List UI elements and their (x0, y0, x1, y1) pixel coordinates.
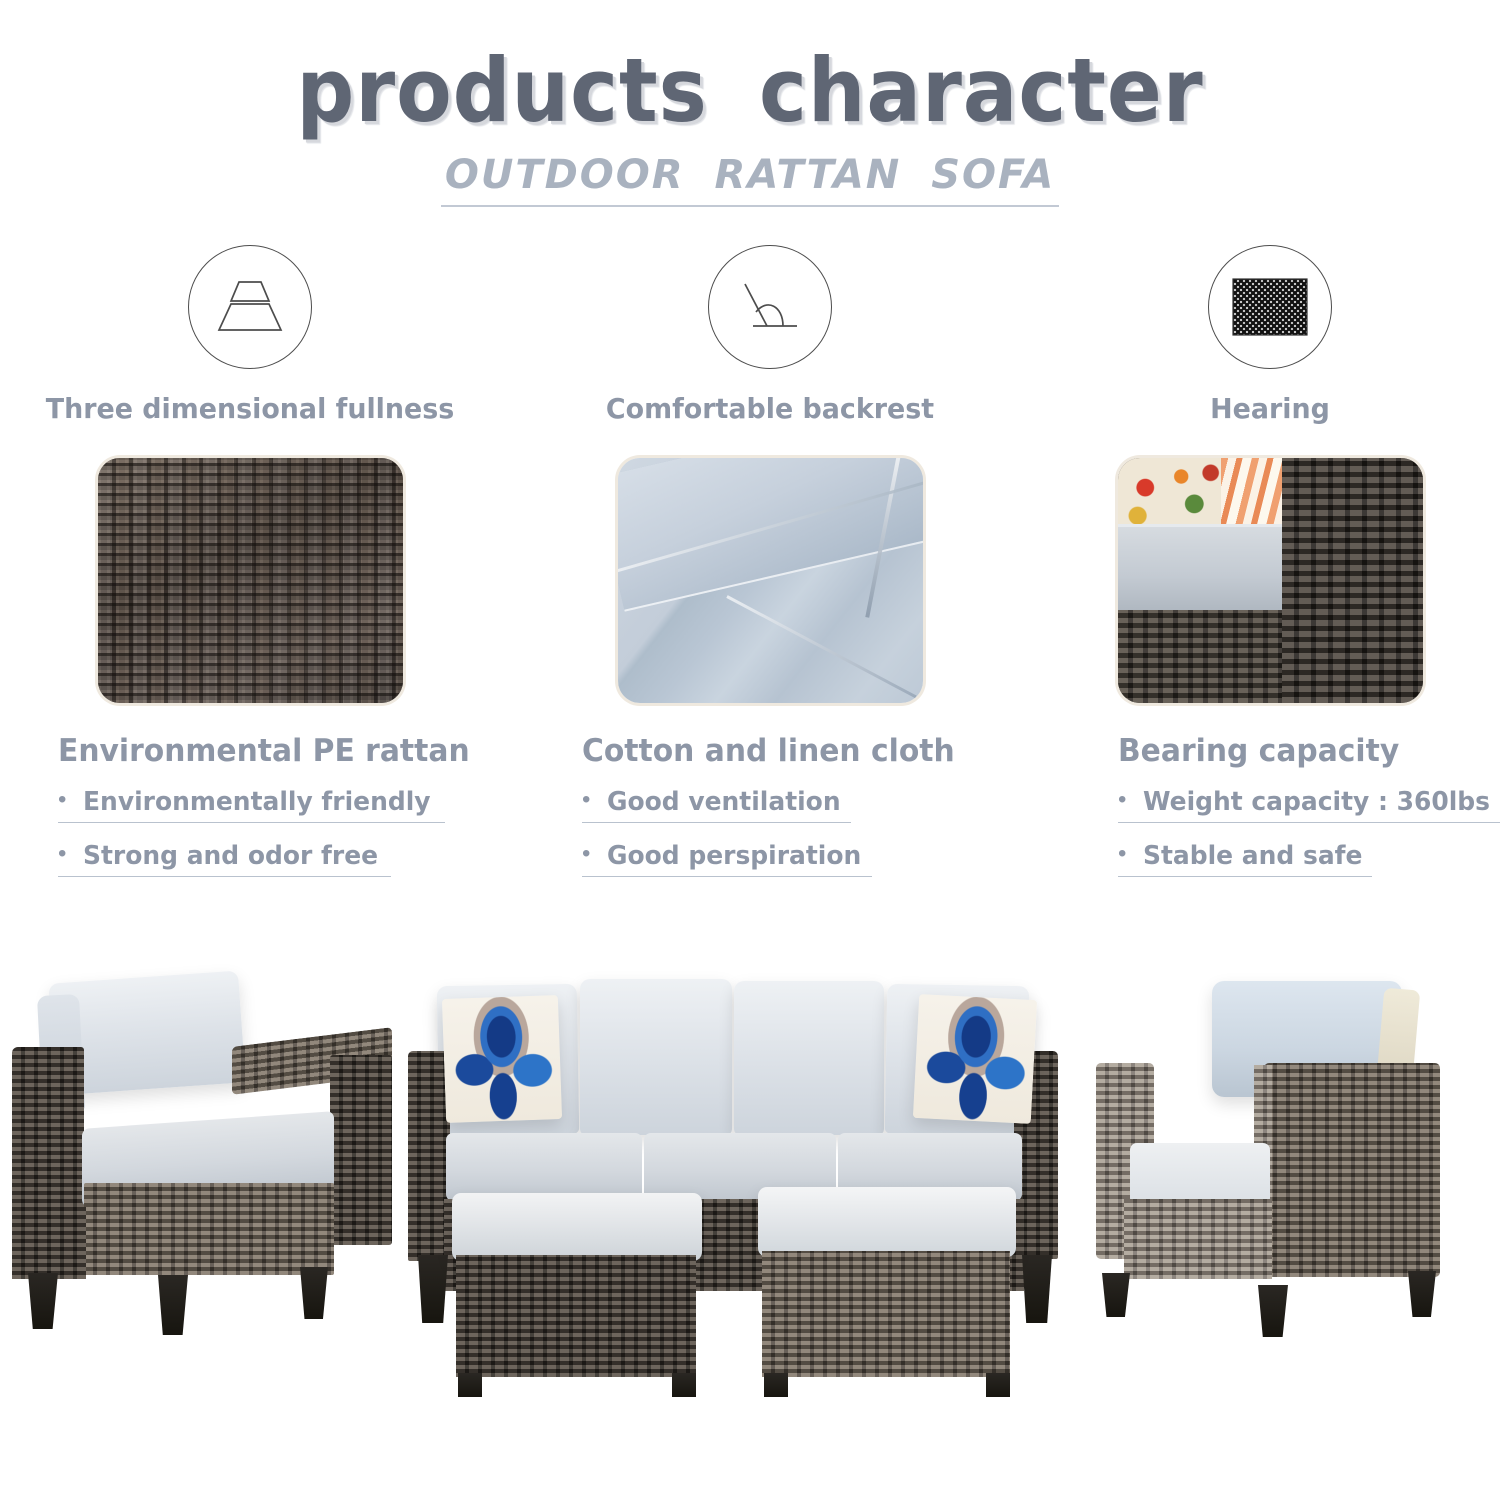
leg (1408, 1271, 1436, 1317)
ikat-pillow (442, 995, 562, 1123)
right-arm (330, 1055, 392, 1245)
layered-pyramid-icon (188, 245, 312, 369)
list-item: • Stable and safe (1118, 841, 1372, 877)
bullet-text: Strong and odor free (83, 841, 378, 871)
list-item: • Good ventilation (582, 787, 851, 823)
leg (418, 1255, 448, 1323)
leg (1022, 1255, 1052, 1323)
bullet-text: Weight capacity : 360lbs (1143, 787, 1490, 817)
bullet-dot-icon: • (1118, 842, 1126, 866)
bolster-shape (618, 458, 923, 612)
outdoor-rattan-sofa-set-photo: Five piece outdoor rattan sofa set: two … (0, 955, 1500, 1425)
leg (764, 1373, 788, 1397)
fabric-texture (618, 458, 923, 703)
leg (1258, 1285, 1288, 1337)
leg (986, 1373, 1010, 1397)
woven-mesh-icon (1208, 245, 1332, 369)
chair-corner-texture (1118, 458, 1423, 703)
bullet-text: Good ventilation (607, 787, 841, 817)
feature-text-block: Environmental PE rattan • Environmentall… (0, 733, 500, 877)
bullet-text: Good perspiration (607, 841, 861, 871)
feature-column-fabric: Comfortable backrest Close-up of light g… (520, 245, 1020, 877)
bullet-dot-icon: • (582, 788, 590, 812)
back-cushion (580, 979, 732, 1135)
leg (28, 1273, 58, 1329)
backrest-angle-icon (708, 245, 832, 369)
seat-cushion (1118, 524, 1295, 610)
page-subtitle-wrap: OUTDOOR RATTAN SOFA (0, 152, 1500, 207)
page-title: products character (60, 46, 1440, 136)
list-item: • Strong and odor free (58, 841, 391, 877)
bullet-dot-icon: • (58, 788, 66, 812)
leg (1102, 1273, 1130, 1317)
feature-title: Environmental PE rattan (58, 733, 482, 769)
list-item: • Weight capacity : 360lbs (1118, 787, 1500, 823)
icon-row (0, 245, 500, 369)
seat-cushion (446, 1133, 642, 1201)
page-subtitle: OUTDOOR RATTAN SOFA (441, 152, 1059, 207)
chair-corner-photo: Chair corner with gray cushion and patte… (1118, 458, 1423, 703)
page-header: products character OUTDOOR RATTAN SOFA (0, 0, 1500, 207)
back-cushion (734, 981, 884, 1135)
cushion-fabric-photo: Close-up of light gray cotton linen cush… (618, 458, 923, 703)
feature-title: Cotton and linen cloth (582, 733, 1002, 769)
feature-title: Bearing capacity (1118, 733, 1485, 769)
ottoman-cushion (758, 1187, 1016, 1257)
feature-text-block: Bearing capacity • Weight capacity : 360… (1040, 733, 1500, 877)
list-item: • Good perspiration (582, 841, 872, 877)
icon-row (1040, 245, 1500, 369)
icon-caption: Three dimensional fullness (10, 392, 490, 425)
feature-column-capacity: Hearing Chair corner with gray cushion a… (1040, 245, 1500, 877)
bullet-text: Environmentally friendly (83, 787, 431, 817)
seam-line (727, 595, 917, 698)
seat-cushion (1130, 1143, 1270, 1205)
bullet-dot-icon: • (1118, 788, 1126, 812)
leg (158, 1275, 188, 1335)
feature-column-rattan: Three dimensional fullness Close-up of d… (0, 245, 500, 877)
bullet-dot-icon: • (58, 842, 66, 866)
ottoman-cushion (452, 1193, 702, 1261)
leg (672, 1373, 696, 1397)
pe-rattan-weave-photo: Close-up of dark brown woven PE rattan (98, 458, 403, 703)
icon-caption: Hearing (1049, 392, 1491, 425)
right-arm-panel (1264, 1063, 1440, 1277)
list-item: • Environmentally friendly (58, 787, 445, 823)
front-base-weave (1124, 1199, 1272, 1279)
leg (300, 1267, 328, 1319)
front-base-weave (84, 1183, 334, 1275)
left-base-weave (12, 1207, 86, 1279)
ottoman-weave (762, 1251, 1010, 1377)
ottoman-weave (456, 1255, 696, 1377)
floral-pillow (1118, 458, 1228, 532)
icon-row (520, 245, 1020, 369)
bullet-text: Stable and safe (1143, 841, 1362, 871)
rattan-texture (98, 458, 403, 703)
feature-text-block: Cotton and linen cloth • Good ventilatio… (520, 733, 1020, 877)
chair-arm-weave (1282, 458, 1422, 703)
icon-caption: Comfortable backrest (530, 392, 1010, 425)
bullet-dot-icon: • (582, 842, 590, 866)
ikat-pillow (913, 994, 1037, 1124)
leg (458, 1373, 482, 1397)
hero-alt-text: Five piece outdoor rattan sofa set: two … (0, 955, 1, 956)
